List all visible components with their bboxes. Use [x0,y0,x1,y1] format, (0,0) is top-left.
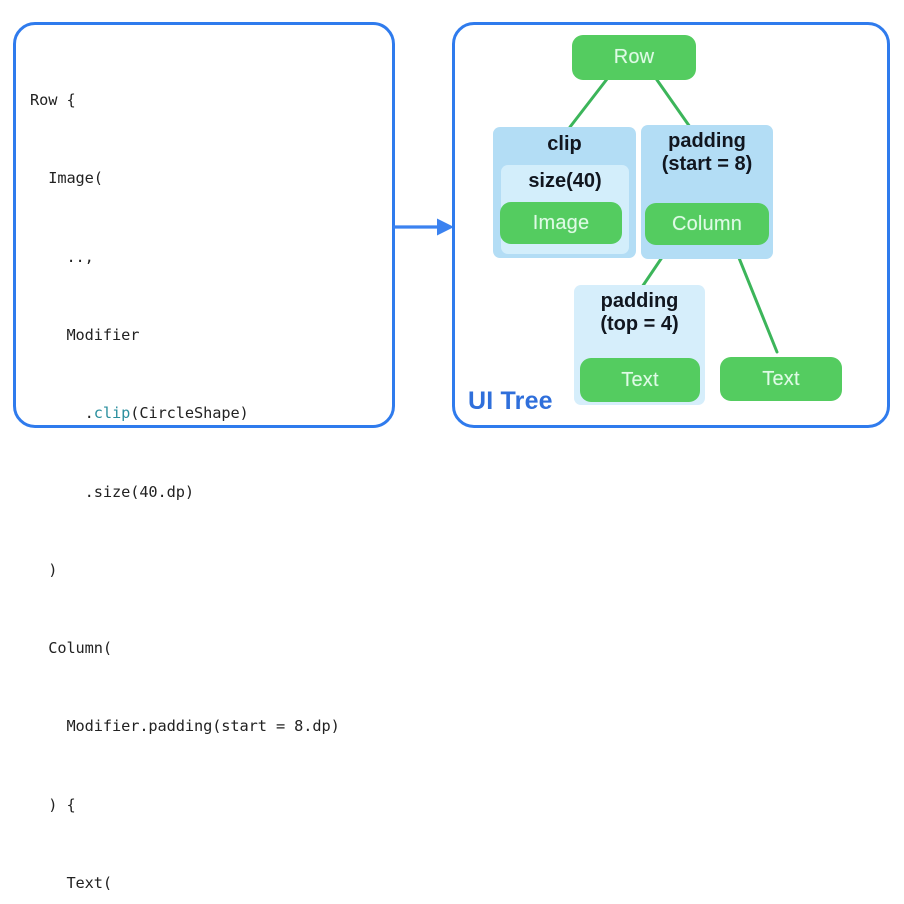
code-line-clip: .clip(CircleShape) [30,400,386,426]
tree-node-row-label: Row [614,46,655,69]
code-line: Column( [30,635,386,661]
tree-node-row[interactable]: Row [572,35,696,80]
code-arg-circleshape: (CircleShape) [130,404,248,422]
code-line: Row { [30,87,386,113]
tree-node-text-plain-label: Text [762,368,799,391]
code-line: Modifier.padding(start = 8.dp) [30,713,386,739]
code-line: .size(40.dp) [30,479,386,505]
code-indent: . [30,404,94,422]
modifier-label-clip: clip [493,133,636,156]
modifier-label-padding-top-line2: (top = 4) [574,313,705,336]
tree-node-image[interactable]: Image [500,202,622,244]
modifier-label-padding-start-line2: (start = 8) [641,153,773,176]
tree-node-text-padded-label: Text [621,369,658,392]
tree-node-column-label: Column [672,213,742,236]
kotlin-code-block: Row { Image( .., Modifier .clip(CircleSh… [30,35,386,904]
flow-arrow-icon [393,213,455,241]
ui-tree-caption: UI Tree [468,387,553,416]
code-line: Modifier [30,322,386,348]
code-line: ) [30,557,386,583]
tree-node-column[interactable]: Column [645,203,769,245]
tree-node-text-plain[interactable]: Text [720,357,842,401]
modifier-label-padding-start-line1: padding [641,130,773,153]
modifier-label-size: size(40) [501,170,629,193]
tree-node-image-label: Image [533,212,590,235]
code-line: .., [30,244,386,270]
modifier-label-padding-top-line1: padding [574,290,705,313]
code-keyword-clip: clip [94,404,130,422]
code-line: ) { [30,792,386,818]
code-line: Text( [30,870,386,896]
code-line: Image( [30,165,386,191]
tree-node-text-padded[interactable]: Text [580,358,700,402]
code-panel: Row { Image( .., Modifier .clip(CircleSh… [13,22,395,428]
